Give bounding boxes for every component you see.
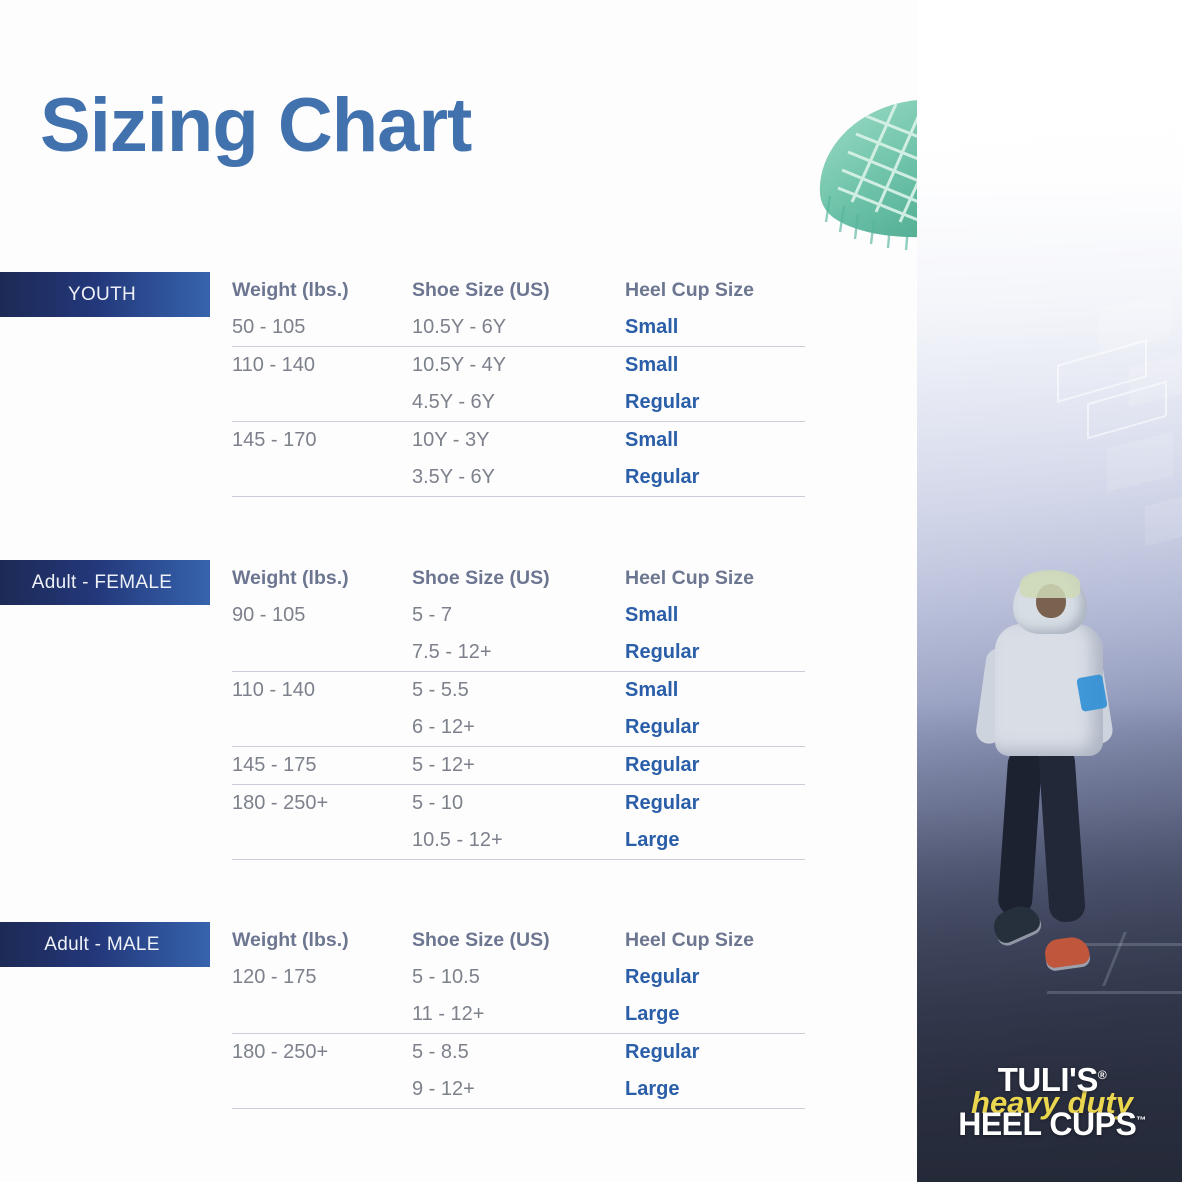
column-header-shoe: Shoe Size (US) [412, 567, 625, 590]
cell-cup: Regular [625, 716, 805, 739]
cell-cup: Small [625, 316, 805, 339]
column-header-weight: Weight (lbs.) [232, 929, 412, 952]
sizing-table-adult-female: Weight (lbs.) Shoe Size (US) Heel Cup Si… [232, 560, 805, 860]
cell-cup: Regular [625, 792, 805, 815]
table-row: 90 - 105 5 - 7 Small [232, 597, 805, 634]
brand-name-text: TULI'S [998, 1061, 1098, 1098]
section-tab-label: Adult - MALE [44, 934, 160, 956]
registered-mark: ® [1098, 1068, 1106, 1082]
table-row: 110 - 140 5 - 5.5 Small [232, 672, 805, 709]
runner-headphones [1020, 570, 1080, 598]
column-header-shoe: Shoe Size (US) [412, 929, 625, 952]
cell-shoe: 5 - 10 [412, 792, 625, 815]
table-row: 145 - 175 5 - 12+ Regular [232, 747, 805, 785]
brand-product: HEEL CUPS™ [941, 1108, 1163, 1140]
brand-name: TULI'S® [998, 1063, 1107, 1096]
table-row: 180 - 250+ 5 - 8.5 Regular [232, 1034, 805, 1071]
cell-shoe: 6 - 12+ [412, 716, 625, 739]
table-row: 110 - 140 10.5Y - 4Y Small [232, 347, 805, 384]
table-header-row: Weight (lbs.) Shoe Size (US) Heel Cup Si… [232, 560, 805, 597]
cell-weight: 145 - 175 [232, 754, 412, 777]
brand-logo: TULI'S® heavy duty HEEL CUPS™ [941, 1063, 1163, 1140]
cell-cup: Regular [625, 391, 805, 414]
table-row: 4.5Y - 6Y Regular [232, 384, 805, 422]
table-row: 3.5Y - 6Y Regular [232, 459, 805, 497]
cell-cup: Large [625, 1078, 805, 1101]
cell-weight: 180 - 250+ [232, 1041, 412, 1064]
cell-shoe: 10Y - 3Y [412, 429, 625, 452]
cell-weight: 90 - 105 [232, 604, 412, 627]
table-row: 6 - 12+ Regular [232, 709, 805, 747]
runner-armband [1076, 674, 1108, 712]
cell-cup: Small [625, 354, 805, 377]
cell-cup: Regular [625, 466, 805, 489]
column-header-cup: Heel Cup Size [625, 567, 805, 590]
cell-shoe: 10.5 - 12+ [412, 829, 625, 852]
cell-cup: Regular [625, 1041, 805, 1064]
cell-cup: Small [625, 679, 805, 702]
table-row: 11 - 12+ Large [232, 996, 805, 1034]
cell-cup: Small [625, 604, 805, 627]
table-header-row: Weight (lbs.) Shoe Size (US) Heel Cup Si… [232, 272, 805, 309]
cell-shoe: 9 - 12+ [412, 1078, 625, 1101]
section-tab-label: YOUTH [68, 284, 136, 306]
cell-cup: Regular [625, 754, 805, 777]
column-header-weight: Weight (lbs.) [232, 279, 412, 302]
section-tab-adult-female[interactable]: Adult - FEMALE [0, 560, 210, 605]
cell-shoe: 5 - 8.5 [412, 1041, 625, 1064]
brand-product-text: HEEL CUPS [958, 1106, 1136, 1142]
cell-cup: Regular [625, 641, 805, 664]
section-tab-adult-male[interactable]: Adult - MALE [0, 922, 210, 967]
table-row: 9 - 12+ Large [232, 1071, 805, 1109]
cell-shoe: 7.5 - 12+ [412, 641, 625, 664]
trademark-mark: ™ [1136, 1115, 1146, 1126]
table-row: 50 - 105 10.5Y - 6Y Small [232, 309, 805, 347]
column-header-weight: Weight (lbs.) [232, 567, 412, 590]
sizing-table-adult-male: Weight (lbs.) Shoe Size (US) Heel Cup Si… [232, 922, 805, 1109]
cell-cup: Large [625, 1003, 805, 1026]
cell-weight: 120 - 175 [232, 966, 412, 989]
cell-weight: 180 - 250+ [232, 792, 412, 815]
cell-weight: 110 - 140 [232, 679, 412, 702]
road-marking [1046, 991, 1182, 994]
table-row: 7.5 - 12+ Regular [232, 634, 805, 672]
cell-cup: Regular [625, 966, 805, 989]
column-header-cup: Heel Cup Size [625, 929, 805, 952]
cell-cup: Small [625, 429, 805, 452]
table-row: 145 - 170 10Y - 3Y Small [232, 422, 805, 459]
cell-weight: 110 - 140 [232, 354, 412, 377]
section-tab-label: Adult - FEMALE [32, 572, 172, 594]
cell-weight: 145 - 170 [232, 429, 412, 452]
sizing-table-youth: Weight (lbs.) Shoe Size (US) Heel Cup Si… [232, 272, 805, 497]
cell-shoe: 4.5Y - 6Y [412, 391, 625, 414]
runner-photo-panel: TULI'S® heavy duty HEEL CUPS™ [917, 0, 1182, 1182]
column-header-shoe: Shoe Size (US) [412, 279, 625, 302]
sizing-chart-page: Sizing Chart [0, 0, 1182, 1182]
table-row: 10.5 - 12+ Large [232, 822, 805, 860]
table-row: 120 - 175 5 - 10.5 Regular [232, 959, 805, 996]
table-header-row: Weight (lbs.) Shoe Size (US) Heel Cup Si… [232, 922, 805, 959]
cell-cup: Large [625, 829, 805, 852]
cell-shoe: 10.5Y - 6Y [412, 316, 625, 339]
cell-shoe: 5 - 12+ [412, 754, 625, 777]
cell-shoe: 11 - 12+ [412, 1003, 625, 1026]
cell-shoe: 10.5Y - 4Y [412, 354, 625, 377]
page-title: Sizing Chart [40, 88, 471, 164]
cell-shoe: 5 - 7 [412, 604, 625, 627]
cell-shoe: 3.5Y - 6Y [412, 466, 625, 489]
cell-shoe: 5 - 10.5 [412, 966, 625, 989]
cell-weight: 50 - 105 [232, 316, 412, 339]
column-header-cup: Heel Cup Size [625, 279, 805, 302]
table-row: 180 - 250+ 5 - 10 Regular [232, 785, 805, 822]
section-tab-youth[interactable]: YOUTH [0, 272, 210, 317]
cell-shoe: 5 - 5.5 [412, 679, 625, 702]
